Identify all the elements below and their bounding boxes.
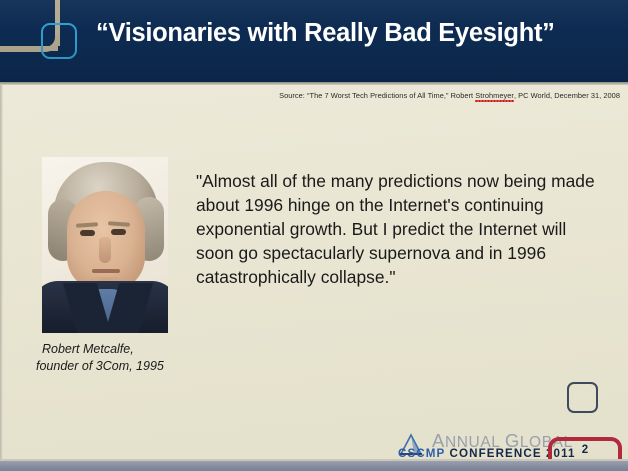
photo-mouth xyxy=(92,269,120,273)
slide-left-edge xyxy=(0,82,3,461)
source-misspelled-name: Strohmeyer xyxy=(475,91,514,100)
slide-header-band: “Visionaries with Really Bad Eyesight” xyxy=(0,0,628,82)
photo-eye-right xyxy=(111,229,126,235)
source-citation: Source: “The 7 Worst Tech Predictions of… xyxy=(279,91,620,100)
slide-title: “Visionaries with Really Bad Eyesight” xyxy=(96,19,596,48)
presentation-slide: “Visionaries with Really Bad Eyesight” S… xyxy=(0,0,628,471)
photo-nose xyxy=(99,237,111,263)
portrait-photo xyxy=(42,157,168,333)
corner-square-decoration xyxy=(567,382,598,413)
caption-line-2: founder of 3Com, 1995 xyxy=(36,358,216,375)
caption-line-1: Robert Metcalfe, xyxy=(36,341,216,358)
quote-text: "Almost all of the many predictions now … xyxy=(196,169,608,289)
photo-eye-left xyxy=(80,230,95,236)
source-prefix: Source: “The 7 Worst Tech Predictions of… xyxy=(279,91,475,100)
photo-caption: Robert Metcalfe, founder of 3Com, 1995 xyxy=(36,341,216,374)
header-divider xyxy=(0,82,628,85)
source-suffix: , PC World, December 31, 2008 xyxy=(514,91,620,100)
page-number: 2 xyxy=(548,444,622,456)
window-bottom-bar xyxy=(0,461,628,471)
